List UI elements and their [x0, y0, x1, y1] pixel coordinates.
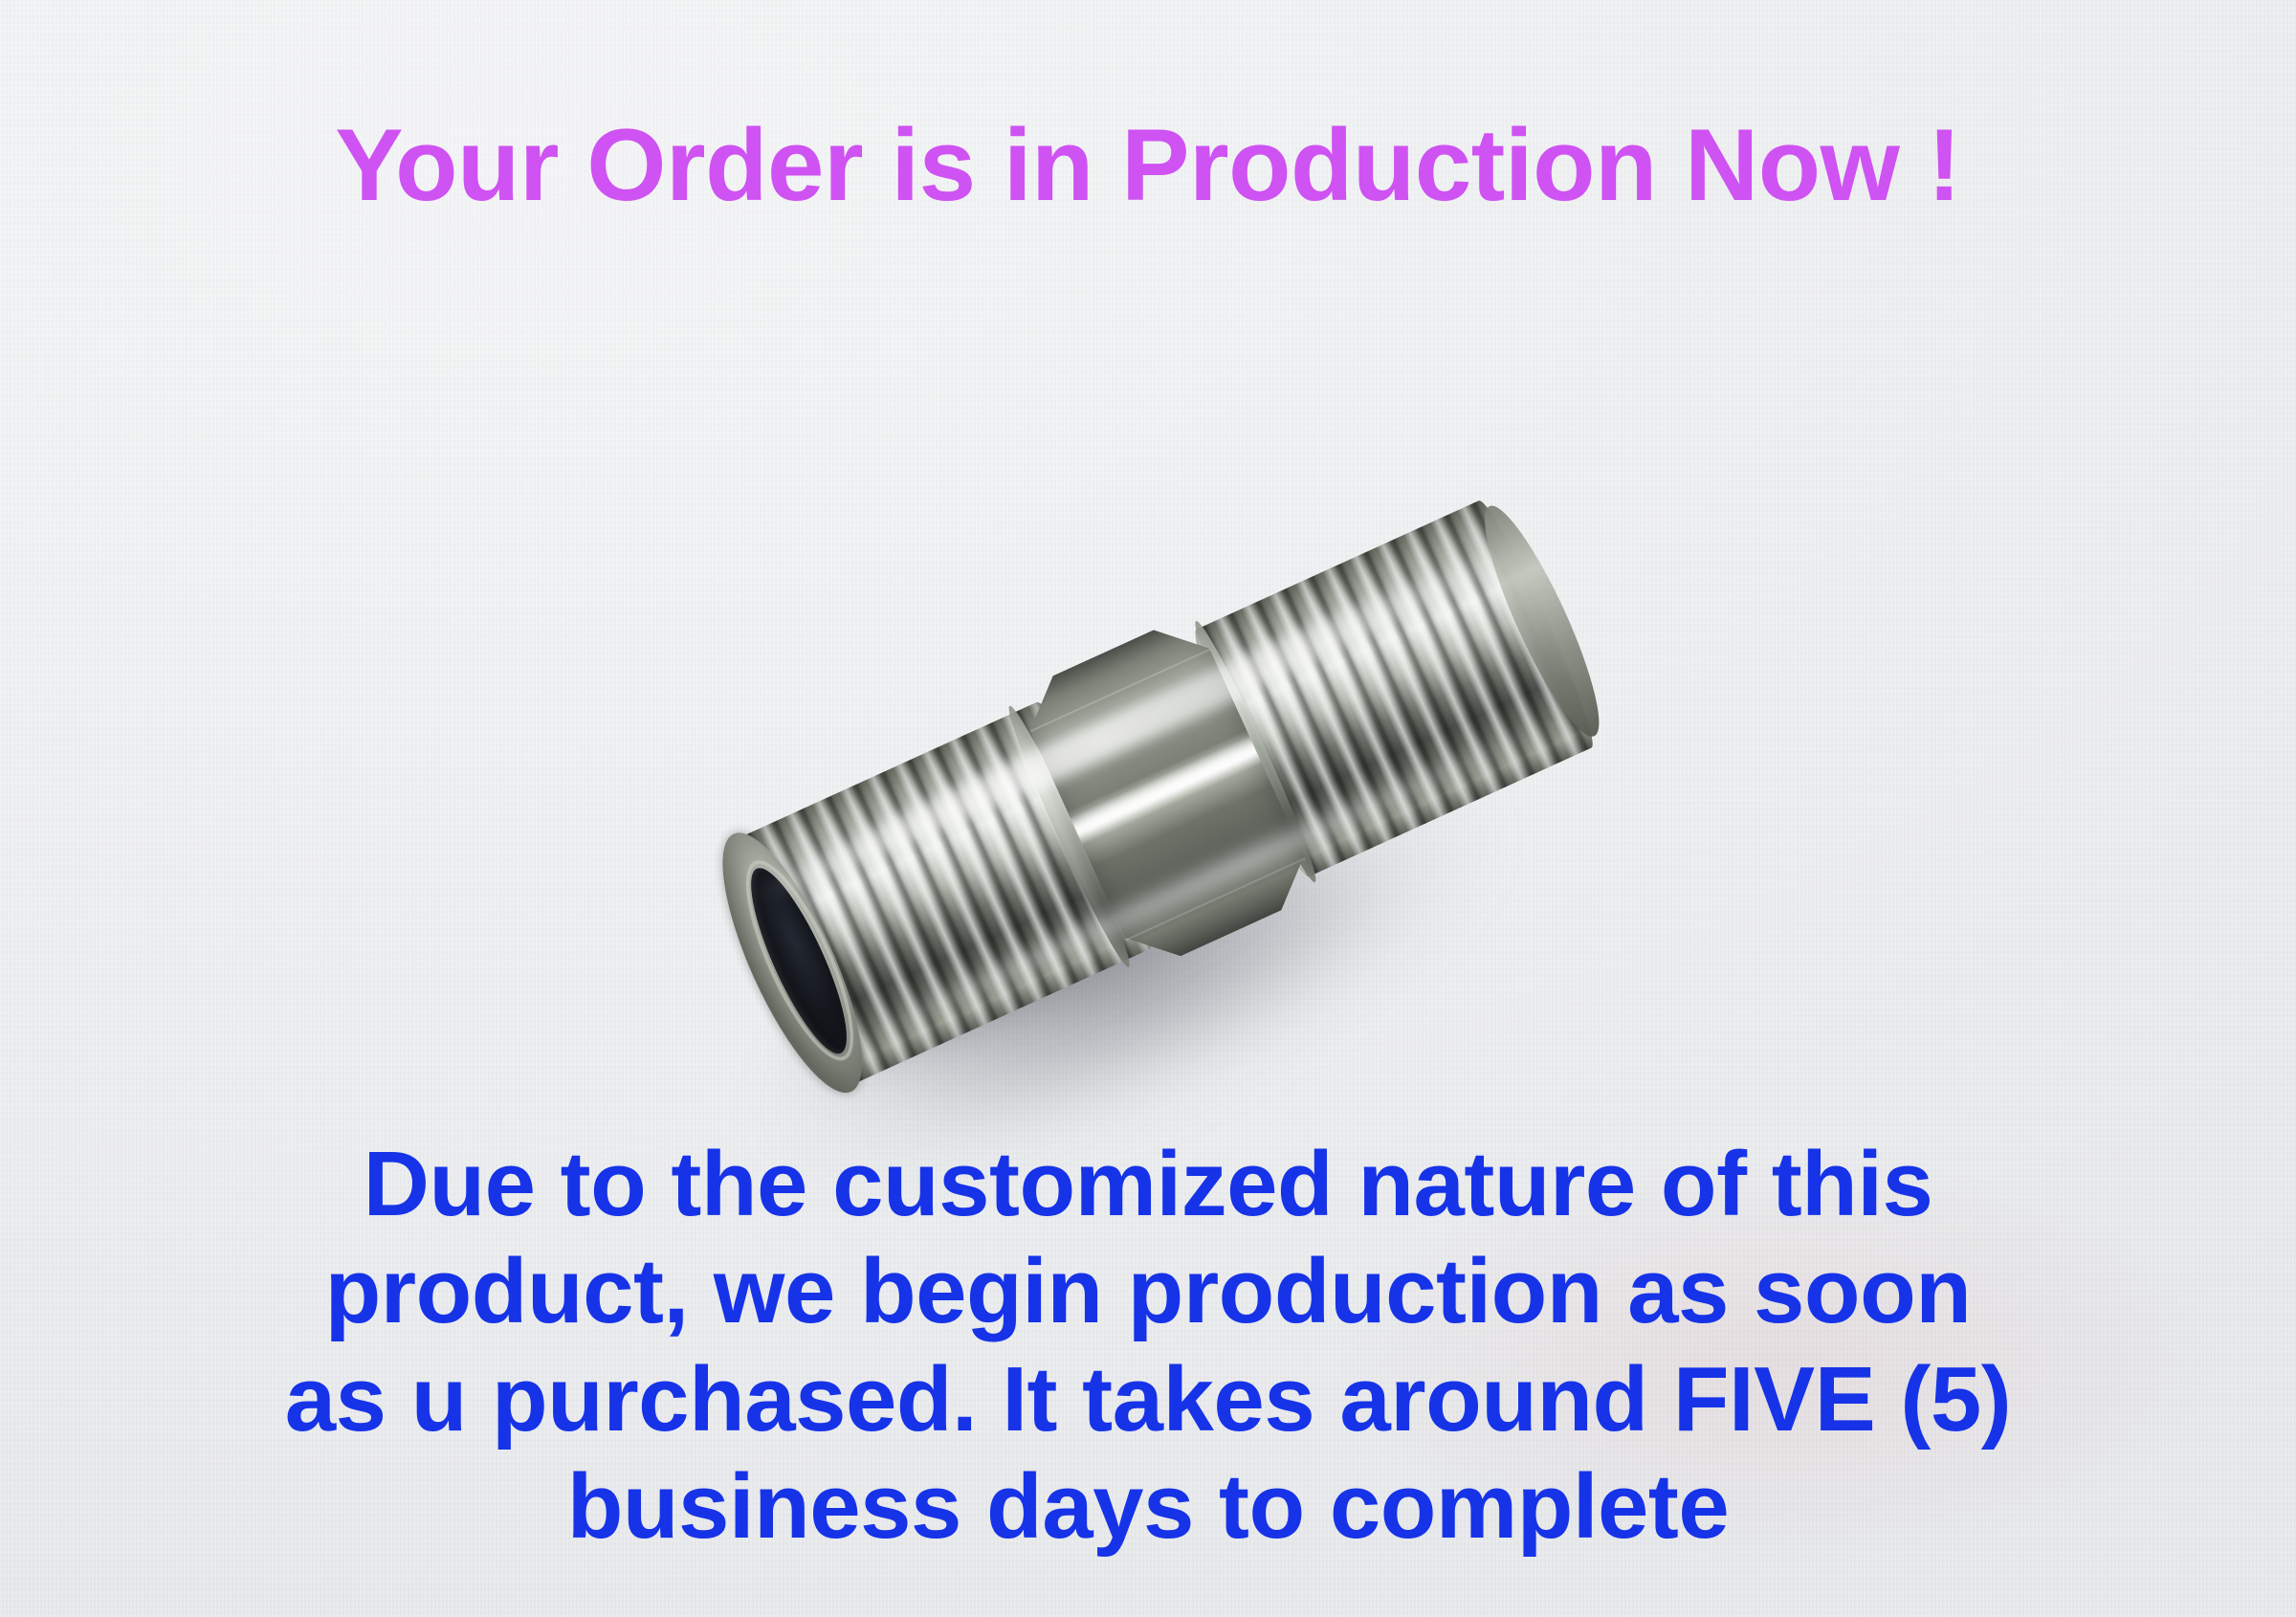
product-photo: [713, 498, 1612, 1091]
body-line-4: business days to complete: [0, 1453, 2296, 1561]
body-line-1: Due to the customized nature of this: [0, 1131, 2296, 1238]
body-line-2: product, we begin production as soon: [0, 1238, 2296, 1345]
headline-text: Your Order is in Production Now !: [0, 113, 2296, 217]
promo-banner: Your Order is in Production Now ! Due to…: [0, 0, 2296, 1617]
body-line-3: as u purchased. It takes around FIVE (5): [0, 1346, 2296, 1453]
body-copy: Due to the customized nature of this pro…: [0, 1131, 2296, 1561]
